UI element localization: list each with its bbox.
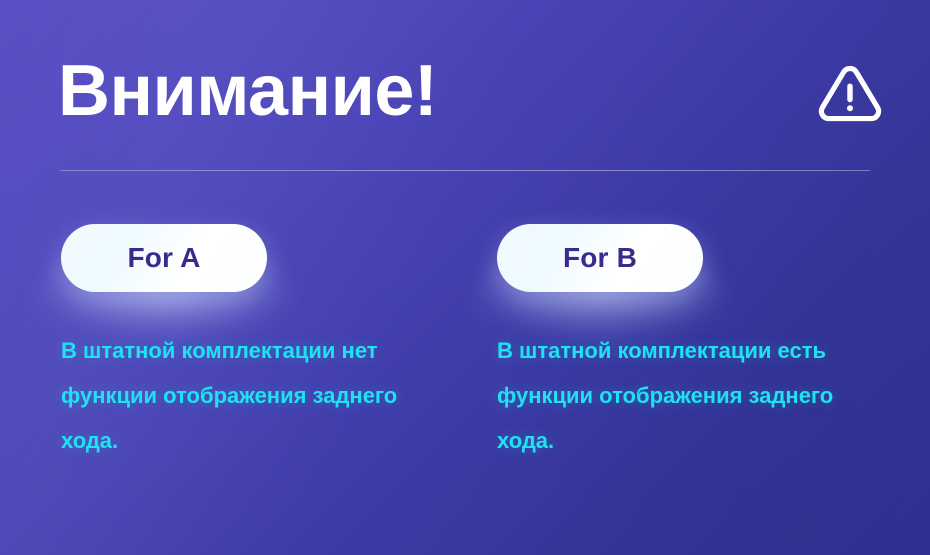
column-b-description: В штатной комплектации есть функции отоб… [497,328,889,463]
column-b: For B В штатной комплектации есть функци… [497,224,897,292]
column-a: For A В штатной комплектации нет функции… [61,224,461,292]
page-title: Внимание! [58,51,437,131]
warning-triangle-icon [817,62,883,124]
pill-label-b: For B [563,242,637,274]
pill-button-for-a[interactable]: For A [61,224,267,292]
pill-label-a: For A [127,242,200,274]
warning-slide: Внимание! For A В штатной комплектации н… [0,0,930,555]
column-a-description: В штатной комплектации нет функции отобр… [61,328,453,463]
pill-wrap-b: For B [497,224,703,292]
pill-wrap-a: For A [61,224,267,292]
pill-button-for-b[interactable]: For B [497,224,703,292]
header-divider [60,170,870,171]
